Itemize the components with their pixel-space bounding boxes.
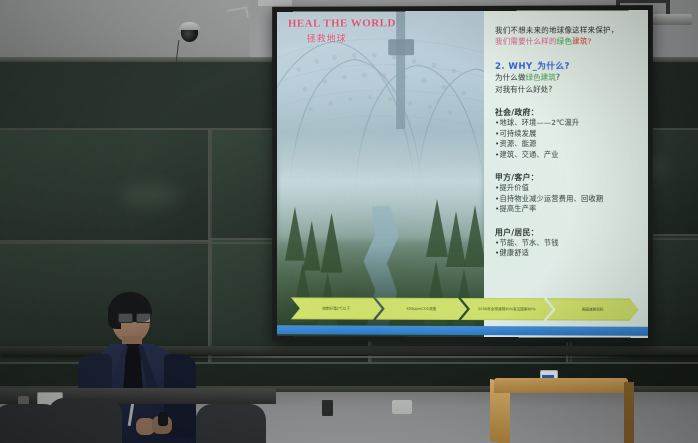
bullet-society: •地球、环境——2℃温升	[495, 118, 640, 129]
glasses-icon	[118, 313, 149, 321]
slide-text-panel: 我们不想未来的地球像这样来保护， 我们需要什么样的绿色建筑? 2. WHY_为什…	[484, 10, 648, 338]
bullet-society: •建筑、交通、产业	[495, 149, 640, 160]
group-title-society: 社会/政府：	[495, 107, 640, 118]
wall-panel-plate	[392, 400, 412, 414]
question-line2-green: 绿色	[557, 37, 572, 46]
sub-line1-suffix: ?	[556, 73, 560, 82]
bullet-society: •可持续发展	[495, 128, 640, 139]
classroom-scene: HEAL THE WORLD 拯救地球 我们不想未来的地球像这样来保护， 我们需…	[0, 0, 698, 443]
group-title-user: 用户/居民：	[495, 227, 640, 238]
blackboard-panel	[0, 128, 212, 244]
slide-photo: HEAL THE WORLD 拯救地球	[277, 11, 484, 337]
sub-line1-prefix: 为什么做	[495, 73, 525, 82]
presentation-slide: HEAL THE WORLD 拯救地球 我们不想未来的地球像这样来保护， 我们需…	[277, 10, 648, 338]
chair	[48, 398, 122, 443]
chalk-smudge	[120, 182, 180, 208]
glasses-lens	[118, 313, 133, 323]
bullet-client: •提升价值	[495, 183, 640, 194]
chair	[196, 404, 266, 443]
slide-sub-line2: 对我有什么好处?	[495, 83, 640, 95]
chevron-strip: 控制升温2℃以下 450ppmCO2浓度 2050年全球减排50%发达国家80%…	[291, 297, 633, 320]
wall-cable	[160, 356, 630, 358]
slide-section-heading: 2. WHY_为什么?	[495, 59, 640, 71]
chevron-step: 控制升温2℃以下	[291, 297, 382, 319]
screen-mount-bar	[618, 0, 670, 3]
slide-title-english: HEAL THE WORLD	[288, 17, 396, 29]
chevron-step: 2050年全球减排50%发达国家80%	[461, 298, 553, 320]
lectern	[500, 390, 624, 443]
ceiling-light-strip	[258, 0, 292, 6]
bullet-user: •健康舒适	[495, 248, 640, 259]
slide-question-line2: 我们需要什么样的绿色建筑?	[495, 35, 640, 47]
bullet-user: •节能、节水、节钱	[495, 238, 640, 249]
slide-bottom-band	[277, 325, 648, 336]
sub-line1-green: 绿色建筑	[525, 73, 555, 82]
bullet-client: •自持物业减少运营费用、回收期	[495, 194, 640, 205]
slide-question-line1: 我们不想未来的地球像这样来保护，	[495, 24, 640, 36]
bullet-society: •资源、能源	[495, 139, 640, 150]
glasses-lens	[136, 313, 151, 323]
bullet-client: •提高生产率	[495, 204, 640, 215]
question-line2-prefix: 我们需要什么样的	[495, 37, 557, 46]
presentation-remote	[158, 412, 168, 426]
projection-screen[interactable]: HEAL THE WORLD 拯救地球 我们不想未来的地球像这样来保护， 我们需…	[277, 10, 648, 338]
slide-sub-line1: 为什么做绿色建筑?	[495, 72, 640, 84]
slide-title-chinese: 拯救地球	[307, 31, 347, 44]
group-title-client: 甲方/客户：	[495, 172, 640, 183]
lectern-edge	[624, 382, 634, 443]
chevron-step: 各国减排目标	[547, 298, 639, 320]
wall-mounted-box	[322, 400, 333, 416]
chevron-step: 450ppmCO2浓度	[376, 298, 467, 320]
question-line2-red: 建筑?	[572, 37, 592, 46]
